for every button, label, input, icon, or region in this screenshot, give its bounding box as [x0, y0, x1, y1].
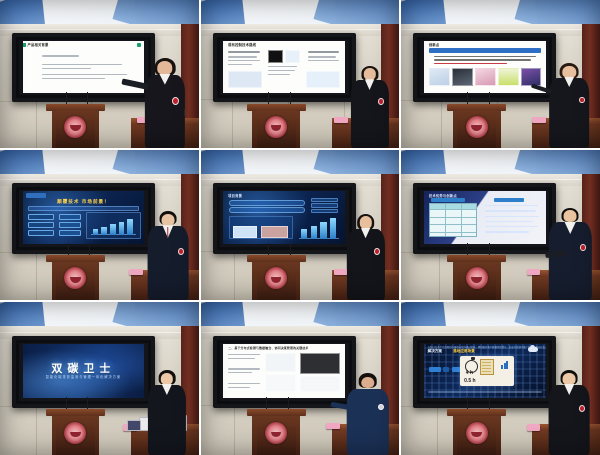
presenter-3: [544, 62, 594, 148]
kpi-value-2: 0.5 h: [464, 378, 475, 384]
photo-panel-4[interactable]: 颠覆技术 市场前景！: [0, 150, 199, 300]
presenter-8: [342, 372, 394, 455]
chart-bar: [127, 219, 132, 235]
slide-title: 二、基于分布式检测与数据融合、协同决策管理的关键技术: [228, 346, 308, 350]
institution-emblem: [65, 267, 87, 289]
chart-bar: [311, 226, 317, 239]
photo-panel-5[interactable]: 项目背景: [201, 150, 400, 300]
slide-title: 技术优势与创新点: [429, 193, 457, 198]
slide-2: 现有控制技术路线: [223, 41, 345, 93]
slide-title: 颠覆技术 市场前景！: [23, 199, 145, 205]
institution-emblem: [466, 422, 488, 444]
sub-box: [311, 209, 338, 213]
ceiling: [401, 0, 600, 25]
flow-box: [429, 367, 441, 372]
chart-bar: [110, 224, 115, 235]
conference-room: 方案已在多个示范项目中落地应用并通过验收，累积服务客户数量持续增长，形成可复制可…: [401, 302, 600, 455]
conference-room: 二、基于分布式检测与数据融合、协同决策管理的关键技术: [201, 302, 400, 455]
presenter-5: [342, 213, 390, 300]
nameplate: [527, 269, 541, 275]
slide-8: 二、基于分布式检测与数据融合、协同决策管理的关键技术: [223, 344, 345, 398]
display-screen-8[interactable]: 二、基于分布式检测与数据融合、协同决策管理的关键技术: [213, 336, 356, 408]
institution-emblem: [466, 116, 488, 138]
photo-panel-8[interactable]: 二、基于分布式检测与数据融合、协同决策管理的关键技术: [201, 302, 400, 455]
sub-box: [311, 203, 338, 207]
slide-summary: [28, 206, 140, 212]
presenter-7: [143, 369, 191, 455]
kpi-card: 4 h 0.5 h: [460, 356, 513, 386]
slide-banner: [429, 48, 541, 53]
display-screen-7[interactable]: 双碳卫士 智能化碳排放监测与管理一体化解决方案: [12, 336, 155, 408]
ceiling: [201, 302, 400, 328]
slide-6: 技术优势与创新点: [424, 191, 546, 244]
chart-bar: [320, 222, 326, 239]
lectern: [453, 409, 501, 455]
slide-figure: [300, 353, 340, 374]
demo-equipment: [127, 420, 141, 431]
slide-3: 创新点: [424, 41, 546, 93]
chart-bar: [330, 218, 336, 238]
display-screen-5[interactable]: 项目背景: [213, 183, 356, 254]
display-screen-9[interactable]: 方案已在多个示范项目中落地应用并通过验收，累积服务客户数量持续增长，形成可复制可…: [413, 336, 556, 408]
ceiling: [201, 150, 400, 176]
display-screen-2[interactable]: 现有控制技术路线: [213, 33, 356, 103]
quote-box: [229, 200, 304, 206]
presenter-6: [544, 207, 596, 300]
conference-room: 产品相关背景: [0, 0, 199, 148]
conference-room: 技术优势与创新点: [401, 150, 600, 300]
slide-9: 方案已在多个示范项目中落地应用并通过验收，累积服务客户数量持续增长，形成可复制可…: [424, 344, 546, 398]
slide-figure: [429, 68, 450, 87]
comparison-table: [429, 203, 478, 237]
photo-panel-9[interactable]: 方案已在多个示范项目中落地应用并通过验收，累积服务客户数量持续增长，形成可复制可…: [401, 302, 600, 455]
lectern: [52, 255, 100, 300]
lectern: [252, 104, 300, 148]
slide-title: 项目背景: [228, 193, 242, 198]
institution-emblem: [265, 422, 287, 444]
conference-room: 创新点: [401, 0, 600, 148]
conference-room: 双碳卫士 智能化碳排放监测与管理一体化解决方案: [0, 302, 199, 455]
slide-tag: [26, 193, 45, 198]
display-screen-1[interactable]: 产品相关背景: [12, 33, 155, 103]
slide-title: 现有控制技术路线: [228, 42, 256, 47]
quote-box: [229, 207, 304, 213]
presenter-1: [139, 56, 191, 148]
conference-room: 项目背景: [201, 150, 400, 300]
slide-logo-mark: [137, 43, 141, 47]
lectern: [52, 104, 100, 148]
slide-figure: [265, 374, 297, 392]
slide-photo: [233, 226, 257, 238]
photo-panel-2[interactable]: 现有控制技术路线: [201, 0, 400, 148]
presenter-2: [346, 65, 394, 148]
conference-room: 现有控制技术路线: [201, 0, 400, 148]
slide-title: 创新点: [429, 42, 440, 47]
flow-box: [28, 214, 55, 220]
ceiling: [0, 302, 199, 328]
kpi-value-1: 4 h: [466, 370, 473, 376]
growth-chart-icon: [501, 361, 510, 369]
photo-grid: 产品相关背景: [0, 0, 600, 451]
conference-room: 颠覆技术 市场前景！: [0, 150, 199, 300]
lectern: [52, 409, 100, 455]
lectern: [453, 104, 501, 148]
slide-figure: [285, 50, 300, 62]
flow-box: [28, 230, 55, 236]
slide-5: 项目背景: [223, 191, 345, 244]
slide-figure: [475, 68, 496, 87]
slide-figure: [268, 50, 283, 62]
lectern: [453, 255, 501, 300]
slide-figure: [306, 71, 340, 89]
flow-box: [59, 230, 81, 236]
display-screen-6[interactable]: 技术优势与创新点: [413, 183, 556, 254]
slide-figure: [228, 71, 262, 89]
photo-panel-7[interactable]: 双碳卫士 智能化碳排放监测与管理一体化解决方案: [0, 302, 199, 455]
institution-emblem: [466, 267, 488, 289]
slide-figure: [452, 68, 473, 87]
slide-photo: [261, 226, 288, 238]
photo-panel-1[interactable]: 产品相关背景: [0, 0, 199, 148]
slide-7: 双碳卫士 智能化碳排放监测与管理一体化解决方案: [23, 344, 145, 398]
lectern: [252, 255, 300, 300]
chart-bar: [119, 222, 124, 235]
lectern: [252, 409, 300, 455]
sub-box: [311, 198, 338, 202]
chart-bar: [101, 227, 106, 235]
bullet-header-label: [494, 198, 523, 202]
presenter-4: [143, 210, 193, 300]
nameplate: [326, 423, 340, 429]
certificate-icon: [480, 359, 494, 375]
slide-tag: 解决方案: [428, 349, 442, 354]
cloud-icon: [528, 347, 538, 352]
slide-cover-subtitle: 智能化碳排放监测与管理一体化解决方案: [23, 374, 145, 379]
chart-bar: [301, 229, 307, 238]
slide-title: 产品相关背景: [28, 42, 49, 47]
ceiling: [401, 150, 600, 176]
flow-box: [28, 222, 55, 228]
ceiling: [401, 302, 600, 328]
slide-footer: [428, 391, 542, 393]
display-screen-3[interactable]: 创新点: [413, 33, 556, 103]
photo-panel-6[interactable]: 技术优势与创新点: [401, 150, 600, 300]
institution-emblem: [265, 267, 287, 289]
flow-box: [59, 222, 81, 228]
flow-box: [59, 214, 81, 220]
slide-4: 颠覆技术 市场前景！: [23, 191, 145, 244]
institution-emblem: [65, 422, 87, 444]
chart-bar: [93, 229, 98, 235]
photo-panel-3[interactable]: 创新点: [401, 0, 600, 148]
slide-title: 落地应用场景: [453, 349, 475, 354]
ceiling: [0, 0, 199, 25]
ceiling: [201, 0, 400, 25]
slide-figure: [300, 376, 340, 392]
table-header-label: [431, 198, 465, 202]
chart-panel: [86, 212, 141, 238]
flow-arrow: [443, 367, 449, 372]
slide-figure: [265, 353, 297, 372]
slide-figure: [498, 68, 519, 87]
institution-emblem: [265, 116, 287, 138]
nameplate: [527, 424, 541, 430]
ceiling: [0, 150, 199, 176]
display-screen-4[interactable]: 颠覆技术 市场前景！: [12, 183, 155, 254]
institution-emblem: [65, 116, 87, 138]
presenter-9: [544, 369, 594, 455]
nameplate: [129, 269, 143, 275]
